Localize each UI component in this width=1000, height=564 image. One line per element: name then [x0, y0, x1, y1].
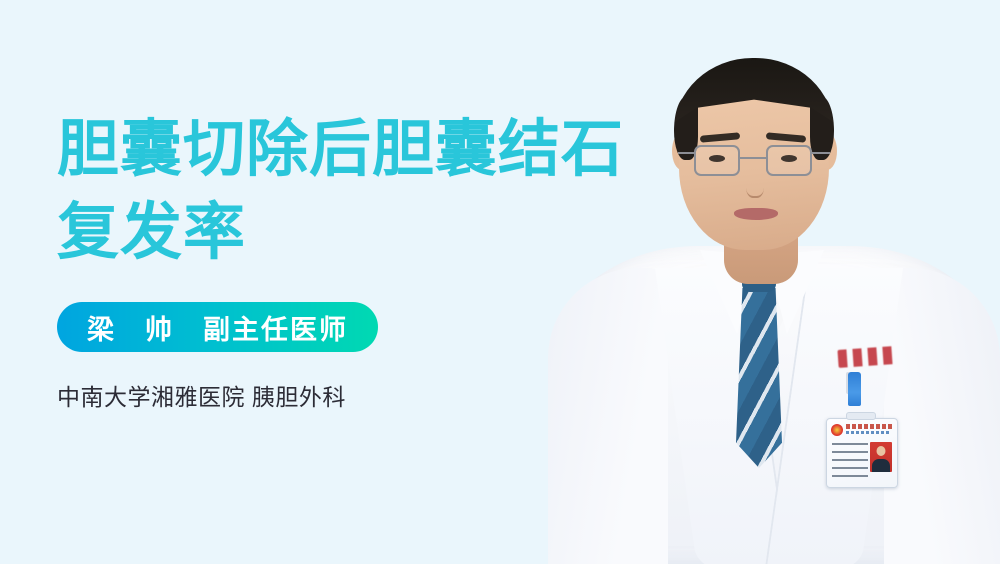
- right-ear: [817, 132, 837, 170]
- glasses-bridge: [740, 157, 766, 159]
- neck: [724, 212, 798, 284]
- id-photo-body: [872, 459, 890, 472]
- right-eyebrow: [766, 132, 806, 142]
- hair-left-side: [674, 96, 698, 160]
- pen-icon: [848, 372, 861, 406]
- doctor-name-badge: 梁 帅 副主任医师: [57, 302, 378, 352]
- video-cover: 胆囊切除后胆囊结石 复发率 梁 帅 副主任医师 中南大学湘雅医院 胰胆外科: [0, 0, 1000, 564]
- glasses-left-lens: [694, 145, 740, 176]
- lab-coat-right-shoulder: [884, 268, 1000, 564]
- nose: [746, 172, 764, 198]
- glasses-left-temple: [678, 152, 696, 154]
- id-badge-org-line-2: [846, 431, 890, 434]
- hair-right-side: [810, 96, 834, 160]
- shirt-left-collar: [700, 250, 758, 334]
- left-eye: [709, 155, 725, 162]
- doctor-affiliation: 中南大学湘雅医院 胰胆外科: [57, 378, 677, 412]
- necktie: [736, 288, 782, 468]
- id-badge: [826, 418, 898, 488]
- hair: [674, 58, 834, 162]
- page-title: 胆囊切除后胆囊结石 复发率: [57, 108, 677, 274]
- right-eye: [781, 155, 797, 162]
- coat-embroidery: [837, 346, 894, 368]
- necktie-knot: [742, 262, 776, 292]
- shirt-right-collar: [766, 250, 824, 334]
- dress-shirt: [706, 252, 818, 362]
- cover-text-block: 胆囊切除后胆囊结石 复发率 梁 帅 副主任医师 中南大学湘雅医院 胰胆外科: [57, 108, 677, 412]
- mouth: [734, 208, 778, 220]
- glasses-right-temple: [812, 152, 830, 154]
- id-badge-org-line-1: [846, 424, 894, 429]
- id-photo-head: [877, 446, 886, 456]
- left-eyebrow: [700, 132, 740, 142]
- hospital-emblem-icon: [831, 424, 843, 436]
- pen-clip-icon: [846, 372, 850, 394]
- id-badge-photo: [870, 442, 892, 472]
- lab-coat-right-lapel: [765, 268, 903, 564]
- head: [679, 64, 829, 250]
- id-badge-clip: [846, 412, 876, 420]
- id-badge-detail-lines: [832, 443, 868, 477]
- glasses-right-lens: [766, 145, 812, 176]
